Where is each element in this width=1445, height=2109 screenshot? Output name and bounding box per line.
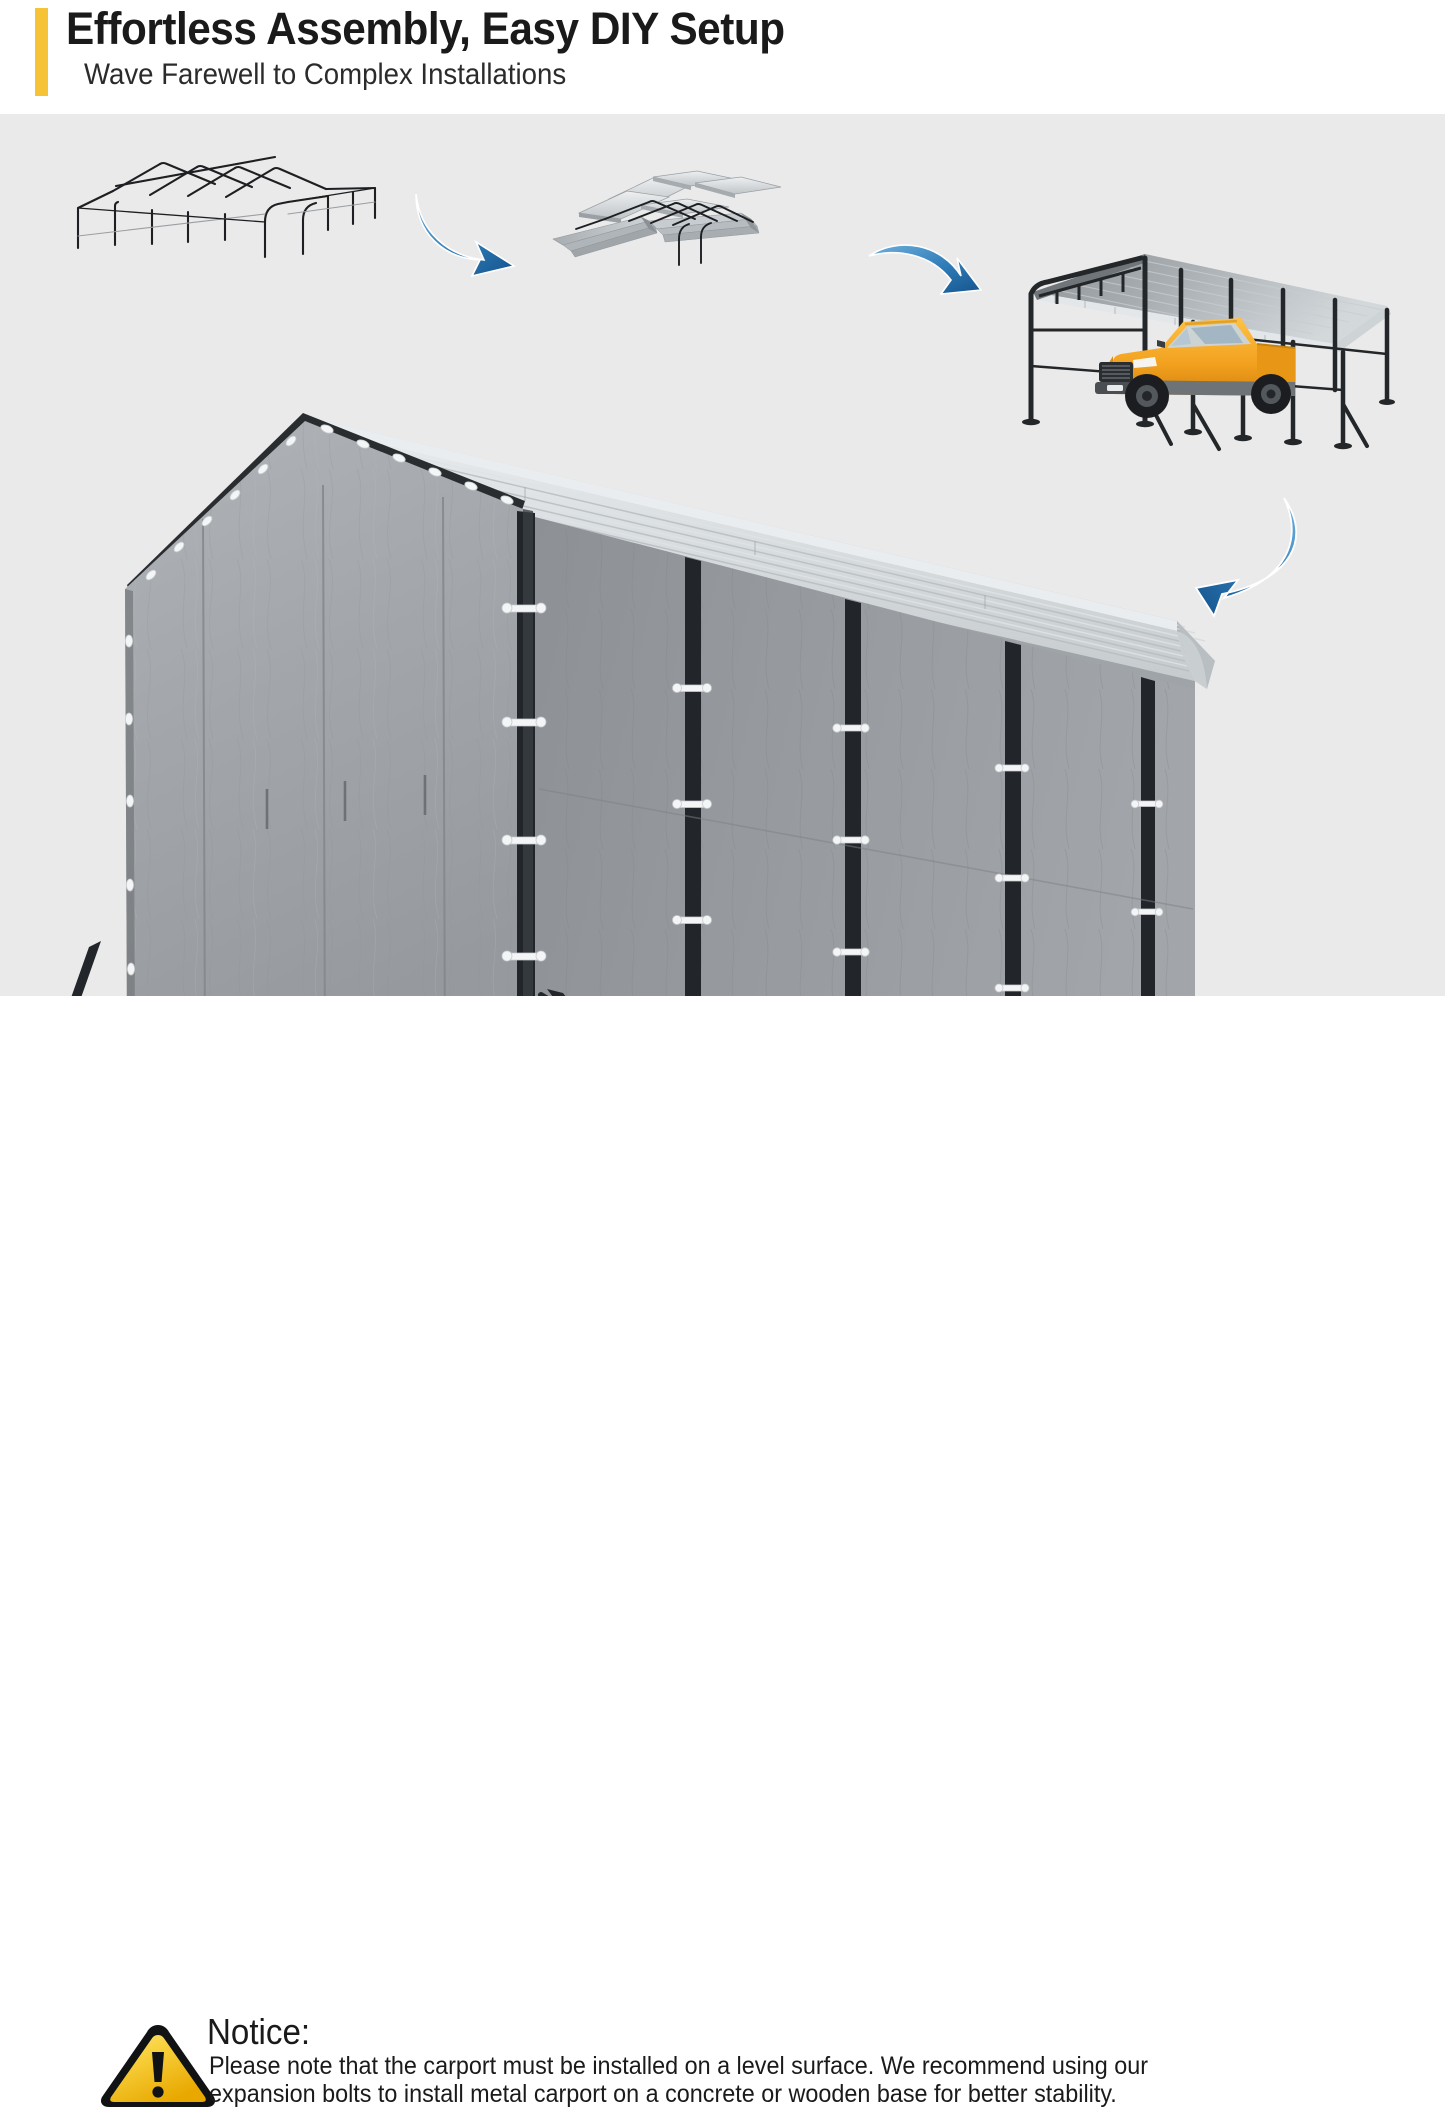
page-title: Effortless Assembly, Easy DIY Setup <box>66 3 785 55</box>
notice-body-line-1: Please note that the carport must be ins… <box>209 2052 1359 2080</box>
accent-bar <box>35 8 48 96</box>
header-banner: Effortless Assembly, Easy DIY Setup Wave… <box>0 0 1445 114</box>
notice-title: Notice: <box>207 2011 310 2053</box>
enclosed-carport-product-image <box>55 289 1270 989</box>
step-frame-assembly <box>60 144 410 274</box>
assembly-diagram-stage <box>0 114 1445 996</box>
notice-footer: Notice: Please note that the carport mus… <box>0 996 1445 1113</box>
notice-body-line-2: expansion bolts to install metal carport… <box>209 2080 1359 2108</box>
arrow-step1-to-step2 <box>410 184 525 279</box>
warning-triangle-icon <box>97 2021 219 2109</box>
notice-body: Please note that the carport must be ins… <box>209 2052 1359 2108</box>
page-subtitle: Wave Farewell to Complex Installations <box>84 58 566 92</box>
